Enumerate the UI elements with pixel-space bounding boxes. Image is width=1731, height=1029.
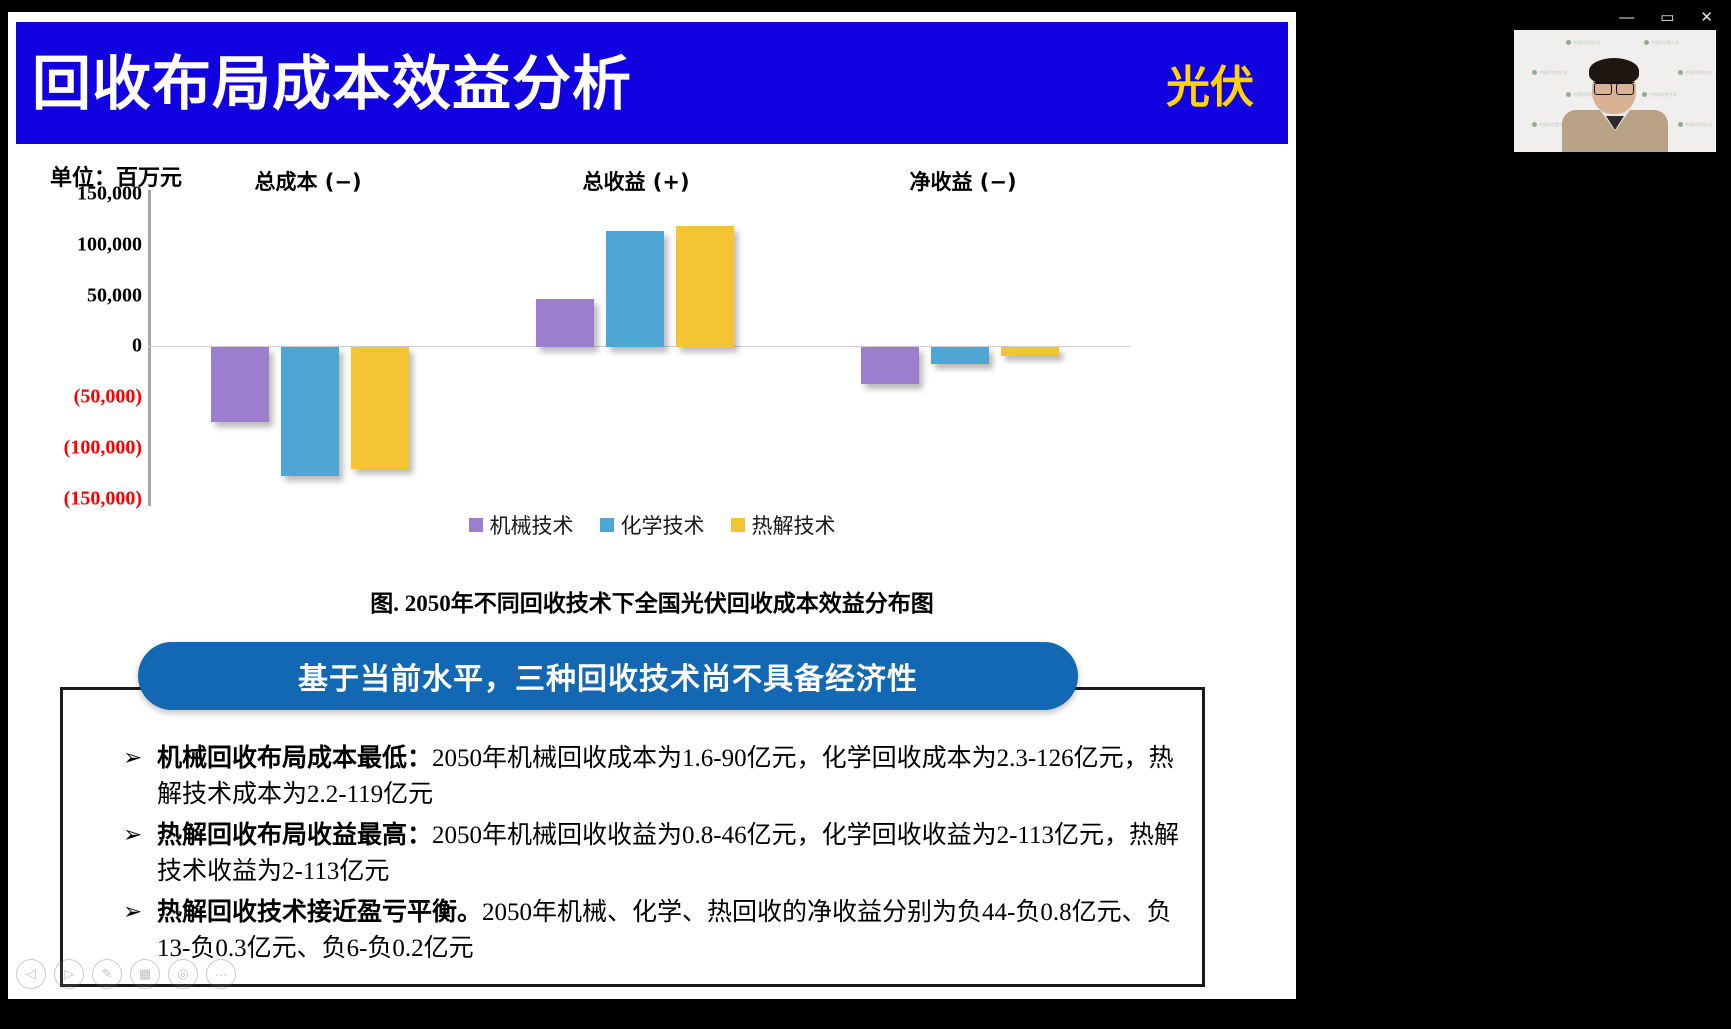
highlight-banner-text: 基于当前水平，三种回收技术尚不具备经济性 [298, 654, 918, 698]
screen-share-window: 回收布局成本效益分析 光伏 单位：百万元 总成本 (−) 总收益 (+) 净收益… [0, 0, 1731, 1029]
bullet-lead-1: 机械回收布局成本最低： [157, 743, 432, 772]
close-icon[interactable]: ✕ [1700, 10, 1713, 25]
bullet-text-3: 热解回收技术接近盈亏平衡。2050年机械、化学、热回收的净收益分别为负44-负0… [157, 894, 1193, 967]
bar-net-benefit-chemical [931, 347, 989, 364]
pen-tool-icon[interactable]: ✎ [92, 959, 122, 989]
bar-total-benefit-pyrolysis [676, 226, 734, 347]
bullet-arrow-icon: ➢ [123, 817, 157, 853]
window-controls[interactable]: — ▭ ✕ [1500, 0, 1729, 34]
webcam-video-feed[interactable]: 中国科学院大学 中国科学院大学 中国科学院大学 中国科学院大学 中国科学院大学 … [1514, 30, 1716, 152]
backdrop-watermark: 中国科学院大学 [1678, 122, 1713, 128]
webcam-overlay: — ▭ ✕ 中国科学院大学 中国科学院大学 中国科学院大学 中国科学院大学 中国… [1500, 0, 1729, 160]
next-slide-icon[interactable]: ▷ [54, 959, 84, 989]
minimize-icon[interactable]: — [1619, 10, 1634, 25]
backdrop-watermark: 中国科学院大学 [1566, 40, 1601, 46]
legend-label-mechanical: 机械技术 [490, 510, 574, 540]
legend-swatch-icon-chemical [600, 518, 614, 532]
legend-swatch-icon-mechanical [469, 518, 483, 532]
webcam-person-hair [1589, 58, 1639, 84]
bar-net-benefit-mechanical [861, 347, 919, 384]
bar-net-benefit-pyrolysis [1001, 347, 1059, 356]
slide-title: 回收布局成本效益分析 [32, 54, 632, 113]
bullet-arrow-icon: ➢ [123, 740, 157, 776]
legend-item-pyrolysis: 热解技术 [731, 510, 836, 540]
bullet-text-1: 机械回收布局成本最低：2050年机械回收成本为1.6-90亿元，化学回收成本为2… [157, 740, 1193, 813]
y-tick-neg150000: (150,000) [8, 488, 142, 511]
y-tick-50000: 50,000 [8, 285, 142, 308]
slide-title-badge: 光伏 [1166, 51, 1254, 115]
backdrop-watermark: 中国科学院大学 [1678, 70, 1713, 76]
maximize-icon[interactable]: ▭ [1660, 10, 1674, 25]
legend-item-mechanical: 机械技术 [469, 510, 574, 540]
list-item: ➢ 热解回收布局收益最高：2050年机械回收收益为0.8-46亿元，化学回收收益… [123, 817, 1193, 890]
y-tick-100000: 100,000 [8, 234, 142, 257]
presentation-slide: 回收布局成本效益分析 光伏 单位：百万元 总成本 (−) 总收益 (+) 净收益… [8, 12, 1296, 999]
chart-legend: 机械技术 化学技术 热解技术 [8, 510, 1296, 540]
bar-total-benefit-chemical [606, 231, 664, 347]
slideshow-controls[interactable]: ◁ ▷ ✎ ▦ ◎ ··· [16, 959, 236, 989]
more-options-icon[interactable]: ··· [206, 959, 236, 989]
highlight-banner: 基于当前水平，三种回收技术尚不具备经济性 [138, 642, 1078, 710]
backdrop-watermark: 中国科学院大学 [1532, 70, 1567, 76]
bullet-arrow-icon: ➢ [123, 894, 157, 930]
legend-item-chemical: 化学技术 [600, 510, 705, 540]
bullet-lead-3: 热解回收技术接近盈亏平衡。 [157, 897, 482, 926]
previous-slide-icon[interactable]: ◁ [16, 959, 46, 989]
legend-label-chemical: 化学技术 [621, 510, 705, 540]
backdrop-watermark: 中国科学院大学 [1644, 40, 1679, 46]
y-tick-0: 0 [8, 335, 142, 358]
y-tick-neg100000: (100,000) [8, 437, 142, 460]
bar-total-benefit-mechanical [536, 299, 594, 347]
bullet-list: ➢ 机械回收布局成本最低：2050年机械回收成本为1.6-90亿元，化学回收成本… [123, 740, 1193, 971]
legend-label-pyrolysis: 热解技术 [752, 510, 836, 540]
list-item: ➢ 机械回收布局成本最低：2050年机械回收成本为1.6-90亿元，化学回收成本… [123, 740, 1193, 813]
content-box: ➢ 机械回收布局成本最低：2050年机械回收成本为1.6-90亿元，化学回收成本… [60, 687, 1205, 987]
backdrop-watermark: 中国科学院大学 [1642, 92, 1677, 98]
y-tick-neg50000: (50,000) [8, 386, 142, 409]
figure-caption: 图. 2050年不同回收技术下全国光伏回收成本效益分布图 [8, 584, 1296, 618]
chart-plot-area: 150,000 100,000 50,000 0 (50,000) (100,0… [148, 152, 1148, 512]
webcam-person-glasses [1594, 82, 1634, 93]
all-slides-icon[interactable]: ▦ [130, 959, 160, 989]
bar-total-cost-mechanical [211, 347, 269, 422]
bar-total-cost-chemical [281, 347, 339, 476]
slide-title-bar: 回收布局成本效益分析 光伏 [16, 22, 1288, 144]
legend-swatch-icon-pyrolysis [731, 518, 745, 532]
y-tick-150000: 150,000 [8, 183, 142, 206]
y-axis-line [148, 190, 151, 506]
zoom-tool-icon[interactable]: ◎ [168, 959, 198, 989]
bullet-text-2: 热解回收布局收益最高：2050年机械回收收益为0.8-46亿元，化学回收收益为2… [157, 817, 1193, 890]
list-item: ➢ 热解回收技术接近盈亏平衡。2050年机械、化学、热回收的净收益分别为负44-… [123, 894, 1193, 967]
bullet-lead-2: 热解回收布局收益最高： [157, 820, 432, 849]
bar-total-cost-pyrolysis [351, 347, 409, 469]
